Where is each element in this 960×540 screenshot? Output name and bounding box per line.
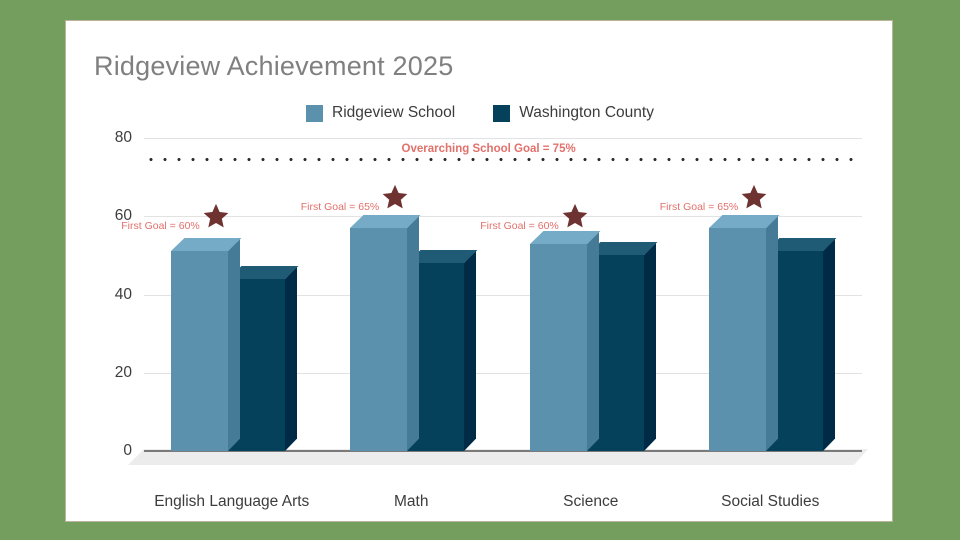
legend-swatch-icon	[493, 105, 510, 122]
bar-group	[171, 138, 285, 451]
first-goal-star-icon	[740, 183, 768, 211]
bar-side-face	[823, 239, 835, 451]
bar-side-face	[587, 231, 599, 451]
first-goal-caption: First Goal = 65%	[660, 201, 739, 213]
bar-face	[709, 228, 766, 451]
chart-title: Ridgeview Achievement 2025	[94, 51, 453, 82]
y-axis-tick-label: 20	[115, 364, 132, 382]
bar-side-face	[407, 216, 419, 451]
x-axis-category-label: Social Studies	[721, 493, 819, 511]
plot-area: 020406080Overarching School Goal = 75%Fi…	[144, 138, 862, 451]
legend-item-1[interactable]: Ridgeview School	[306, 104, 455, 122]
bar-side-face	[464, 251, 476, 451]
bar-side-face	[228, 239, 240, 451]
slide-card: Ridgeview Achievement 2025 Ridgeview Sch…	[65, 20, 893, 522]
first-goal-star-icon	[202, 202, 230, 230]
x-axis-category-label: Science	[563, 493, 618, 511]
first-goal-star-icon	[381, 183, 409, 211]
bar-face	[530, 244, 587, 451]
bar-ridgeview-school[interactable]	[171, 251, 228, 451]
y-axis-tick-label: 0	[123, 442, 132, 460]
bar-side-face	[285, 266, 297, 451]
bar-ridgeview-school[interactable]	[709, 228, 766, 451]
first-goal-caption: First Goal = 65%	[301, 201, 380, 213]
x-axis-category-label: Math	[394, 493, 428, 511]
legend-label: Ridgeview School	[332, 104, 455, 122]
y-axis-tick-label: 80	[115, 129, 132, 147]
first-goal-star-icon	[561, 202, 589, 230]
first-goal-caption: First Goal = 60%	[121, 220, 200, 232]
slide-stage: Ridgeview Achievement 2025 Ridgeview Sch…	[0, 0, 960, 540]
bar-side-face	[766, 216, 778, 451]
legend-label: Washington County	[519, 104, 654, 122]
x-axis-category-label: English Language Arts	[154, 493, 309, 511]
y-axis-tick-label: 40	[115, 286, 132, 304]
bar-ridgeview-school[interactable]	[350, 228, 407, 451]
bar-ridgeview-school[interactable]	[530, 244, 587, 451]
chart-legend: Ridgeview SchoolWashington County	[66, 104, 894, 122]
legend-swatch-icon	[306, 105, 323, 122]
legend-item-2[interactable]: Washington County	[493, 104, 654, 122]
bar-side-face	[644, 243, 656, 451]
bar-face	[171, 251, 228, 451]
bar-group	[530, 138, 644, 451]
bar-face	[350, 228, 407, 451]
